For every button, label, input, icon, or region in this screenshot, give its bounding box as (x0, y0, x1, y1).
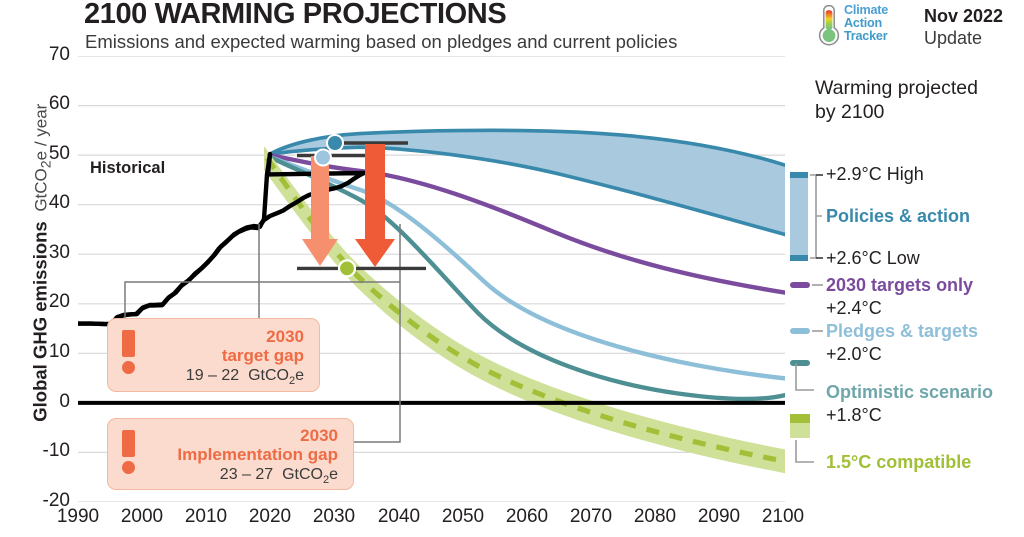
y-tick-10: 10 (14, 341, 70, 363)
legend-swatch-targets-2030 (790, 282, 810, 288)
legend-targets-2030-label: 2030 targets only (826, 275, 973, 296)
y-tick-60: 60 (14, 93, 70, 115)
legend-policies-low-temp: +2.6°C Low (826, 248, 920, 269)
x-tick-2060: 2060 (492, 506, 562, 528)
page-subtitle: Emissions and expected warming based on … (85, 31, 677, 53)
y-tick-70: 70 (14, 44, 70, 66)
update-label: Update (924, 28, 982, 49)
y-tick-40: 40 (14, 192, 70, 214)
y-tick-neg10: -10 (14, 440, 70, 462)
callout-target-gap-value: 19 – 22 GtCO2e (108, 367, 304, 387)
logo-line-tracker: Tracker (844, 30, 888, 43)
legend-optimistic-label: Optimistic scenario (826, 382, 993, 403)
legend-optimistic-temp: +1.8°C (826, 405, 882, 426)
callout-implementation-gap-range: 23 – 27 (220, 466, 273, 483)
x-tick-2100: 2100 (748, 506, 818, 528)
y-tick-50: 50 (14, 143, 70, 165)
legend-bracket-policies (810, 175, 822, 258)
legend-swatch-policies-action (790, 172, 808, 261)
x-tick-2000: 2000 (107, 506, 177, 528)
page-title: 2100 WARMING PROJECTIONS (84, 0, 506, 31)
y-tick-30: 30 (14, 242, 70, 264)
thermometer-icon (816, 4, 842, 46)
update-date: Nov 2022 (924, 6, 1003, 27)
callout-implementation-gap-name: Implementation gap (108, 445, 338, 465)
chart-legend: Warming projected by 2100 +2. (790, 60, 1024, 480)
logo-wordmark: Climate Action Tracker (844, 4, 888, 44)
policies-2030-marker (327, 135, 343, 151)
legend-targets-2030-temp: +2.4°C (826, 298, 882, 319)
legend-pledges-targets-temp: +2.0°C (826, 344, 882, 365)
legend-policies-high-temp: +2.9°C High (826, 164, 924, 185)
legend-swatch-optimistic (790, 360, 810, 366)
compatible-2030-marker (339, 260, 355, 276)
x-tick-2090: 2090 (684, 506, 754, 528)
pledges-2030-marker (315, 150, 331, 166)
gap-frame-1 (138, 224, 259, 328)
callout-implementation-gap[interactable]: 2030 Implementation gap 23 – 27 GtCO2e (107, 418, 354, 490)
x-tick-2040: 2040 (364, 506, 434, 528)
callout-implementation-gap-year: 2030 (108, 426, 338, 446)
x-tick-1990: 1990 (43, 506, 113, 528)
historical-line-tail (78, 154, 270, 324)
callout-implementation-gap-value: 23 – 27 GtCO2e (108, 466, 338, 486)
callout-target-gap-year: 2030 (108, 327, 304, 347)
legend-bracket-optimistic (796, 363, 814, 390)
x-tick-2030: 2030 (299, 506, 369, 528)
legend-policies-action-label: Policies & action (826, 206, 970, 227)
y-tick-0: 0 (14, 391, 70, 413)
callout-target-gap-name: target gap (108, 346, 304, 366)
climate-action-tracker-logo: Climate Action Tracker Nov 2022 Update (816, 3, 1021, 49)
legend-pledges-targets-label: Pledges & targets (826, 321, 978, 342)
callout-target-gap-range: 19 – 22 (186, 367, 239, 384)
x-tick-2050: 2050 (428, 506, 498, 528)
x-tick-2020: 2020 (235, 506, 305, 528)
y-tick-20: 20 (14, 291, 70, 313)
legend-15c-compatible-label: 1.5°C compatible (826, 452, 971, 473)
callout-target-gap[interactable]: 2030 target gap 19 – 22 GtCO2e (107, 318, 320, 392)
x-tick-2080: 2080 (620, 506, 690, 528)
legend-swatch-pledges-targets (790, 328, 810, 334)
x-tick-2070: 2070 (556, 506, 626, 528)
legend-bracket-15c (796, 440, 814, 462)
historical-label: Historical (90, 159, 165, 178)
x-tick-2010: 2010 (171, 506, 241, 528)
